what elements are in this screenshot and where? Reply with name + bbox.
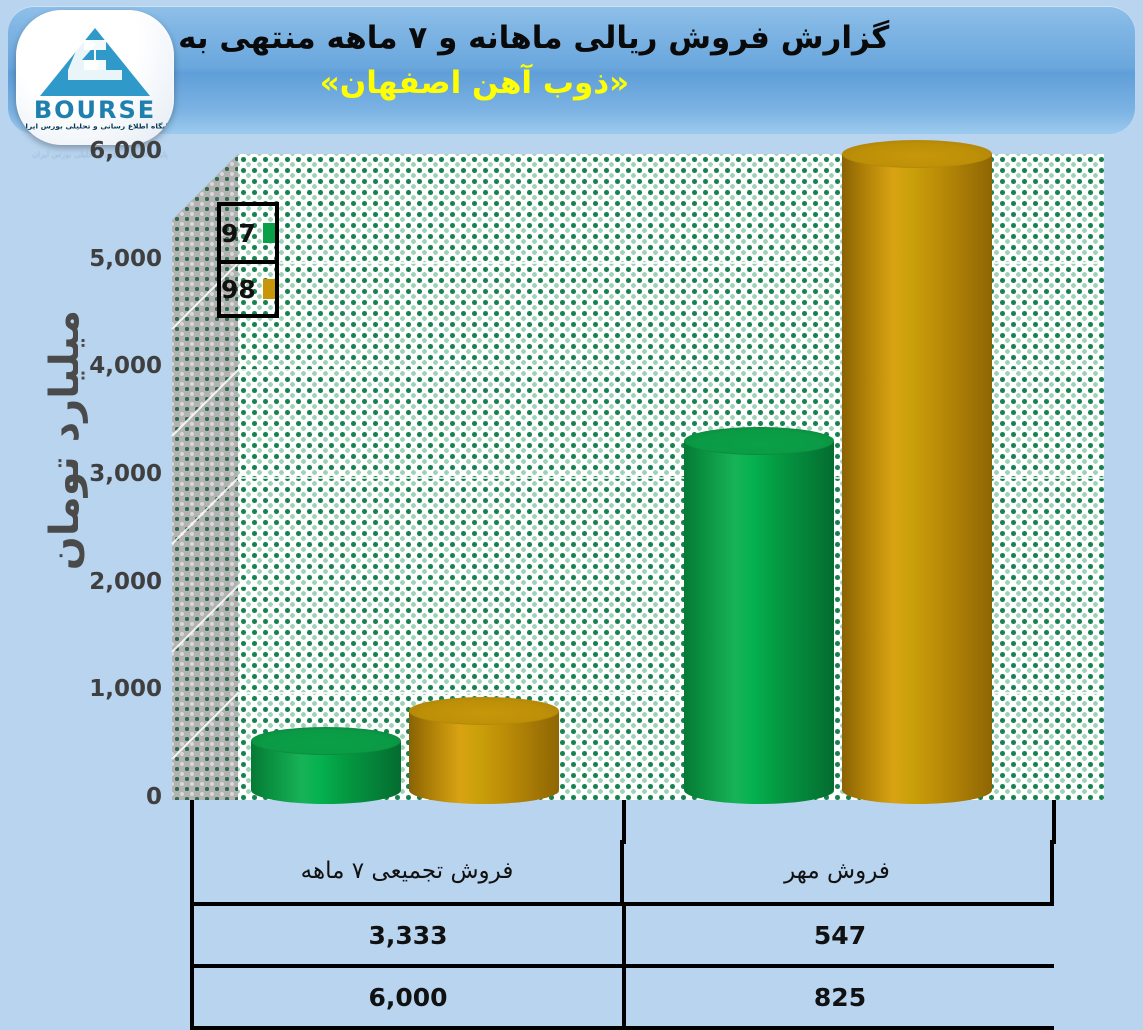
y-tick-label: 1,000 [22,676,162,702]
table-cell: 6,000 [190,968,622,1026]
y-tick-label: 0 [22,784,162,810]
x-tick-mark [190,800,194,844]
table-column-header: فروش مهر [624,840,1054,902]
legend-label: 98 [221,275,256,304]
legend-entry-97: 97 [217,202,279,260]
bar-cylinder-98-1 [842,140,992,804]
table-column-header: فروش تجمیعی ۷ ماهه [190,840,624,902]
bar-body [684,441,834,804]
logo-tagline: پایگاه اطلاع رسانی و تحلیلی بورس ایران [16,122,174,130]
bourse24-logo: BOURSE پایگاه اطلاع رسانی و تحلیلی بورس … [16,10,174,145]
bar-top-ellipse [251,727,401,755]
legend-swatch [263,223,275,243]
table-cell: 825 [622,968,1054,1026]
table-header-row: فروش مهرفروش تجمیعی ۷ ماهه [190,840,1054,902]
table-cell: 547 [622,906,1054,964]
bar-body [842,154,992,804]
x-tick-mark [1052,800,1056,844]
bar-top-ellipse [842,140,992,168]
y-tick-label: 5,000 [22,246,162,272]
table-row: 5473,333 [190,902,1054,964]
table-row: 8256,000 [190,964,1054,1030]
plot-floor [172,800,1104,840]
logo-wordmark: BOURSE [16,96,174,124]
legend-entry-98: 98 [217,260,279,318]
bar-top-ellipse [409,697,559,725]
y-tick-label: 6,000 [22,138,162,164]
chart-plot-area: 01,0002,0003,0004,0005,0006,000 میلیارد … [0,140,1143,1027]
legend-label: 97 [221,219,256,248]
logo-triangle-icon [38,26,152,98]
table-body: 5473,3338256,000 [190,902,1054,1030]
x-tick-mark [622,800,626,844]
table-cell: 3,333 [190,906,622,964]
legend-swatch [263,279,275,299]
legend: 9798 [217,202,279,318]
bar-cylinder-97-0 [251,727,401,804]
y-axis-title: میلیارد تومان [42,310,88,570]
bar-cylinder-97-1 [684,427,834,804]
y-tick-label: 2,000 [22,569,162,595]
header-banner: گزارش فروش ریالی ماهانه و ۷ ماهه منتهی ب… [8,6,1135,134]
bar-body [409,711,559,804]
data-table: فروش مهرفروش تجمیعی ۷ ماهه 5473,3338256,… [190,840,1054,1030]
bar-top-ellipse [684,427,834,455]
bar-cylinder-98-0 [409,697,559,804]
